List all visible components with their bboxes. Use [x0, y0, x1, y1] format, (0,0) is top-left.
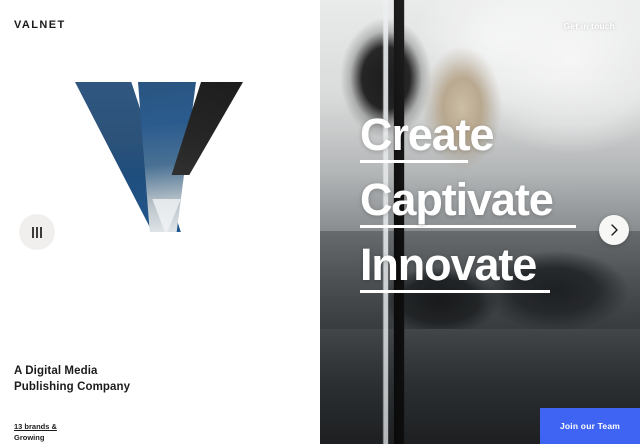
page-root: VALNET A Digital Media Publishing Compan…	[0, 0, 640, 444]
headline-line-1: Create	[360, 110, 610, 163]
brand-count-line-1: 13 brands &	[14, 421, 57, 432]
brand-count-line-2: Growing	[14, 432, 57, 443]
tagline: A Digital Media Publishing Company	[14, 363, 130, 395]
left-panel: VALNET A Digital Media Publishing Compan…	[0, 0, 320, 444]
brand-logo[interactable]: VALNET	[14, 19, 66, 31]
tagline-line-1: A Digital Media	[14, 363, 130, 379]
brand-count-stat[interactable]: 13 brands & Growing	[14, 421, 57, 443]
headline-word-create: Create	[360, 110, 610, 159]
pause-bar-1	[32, 227, 34, 238]
headline-word-captivate: Captivate	[360, 175, 610, 224]
headline-underline-3	[360, 290, 550, 293]
headline-word-innovate: Innovate	[360, 240, 610, 289]
valnet-v-triangle-logo-icon	[75, 82, 243, 232]
headline-line-3: Innovate	[360, 240, 610, 293]
pause-bars-icon-button[interactable]	[19, 214, 55, 250]
chevron-right-icon	[610, 224, 619, 236]
chevron-right-icon-button[interactable]	[599, 215, 629, 245]
headline-underline-1	[360, 160, 468, 163]
join-our-team-button[interactable]: Join our Team	[540, 408, 640, 444]
right-panel: Get in touch Create Captivate Innovate J…	[320, 0, 640, 444]
pause-bar-2	[36, 227, 38, 238]
headline-line-2: Captivate	[360, 175, 610, 228]
headline-underline-2	[360, 225, 576, 228]
pause-bar-3	[40, 227, 42, 238]
tagline-line-2: Publishing Company	[14, 379, 130, 395]
get-in-touch-link[interactable]: Get in touch	[564, 21, 615, 31]
hero-headline: Create Captivate Innovate	[360, 110, 610, 305]
